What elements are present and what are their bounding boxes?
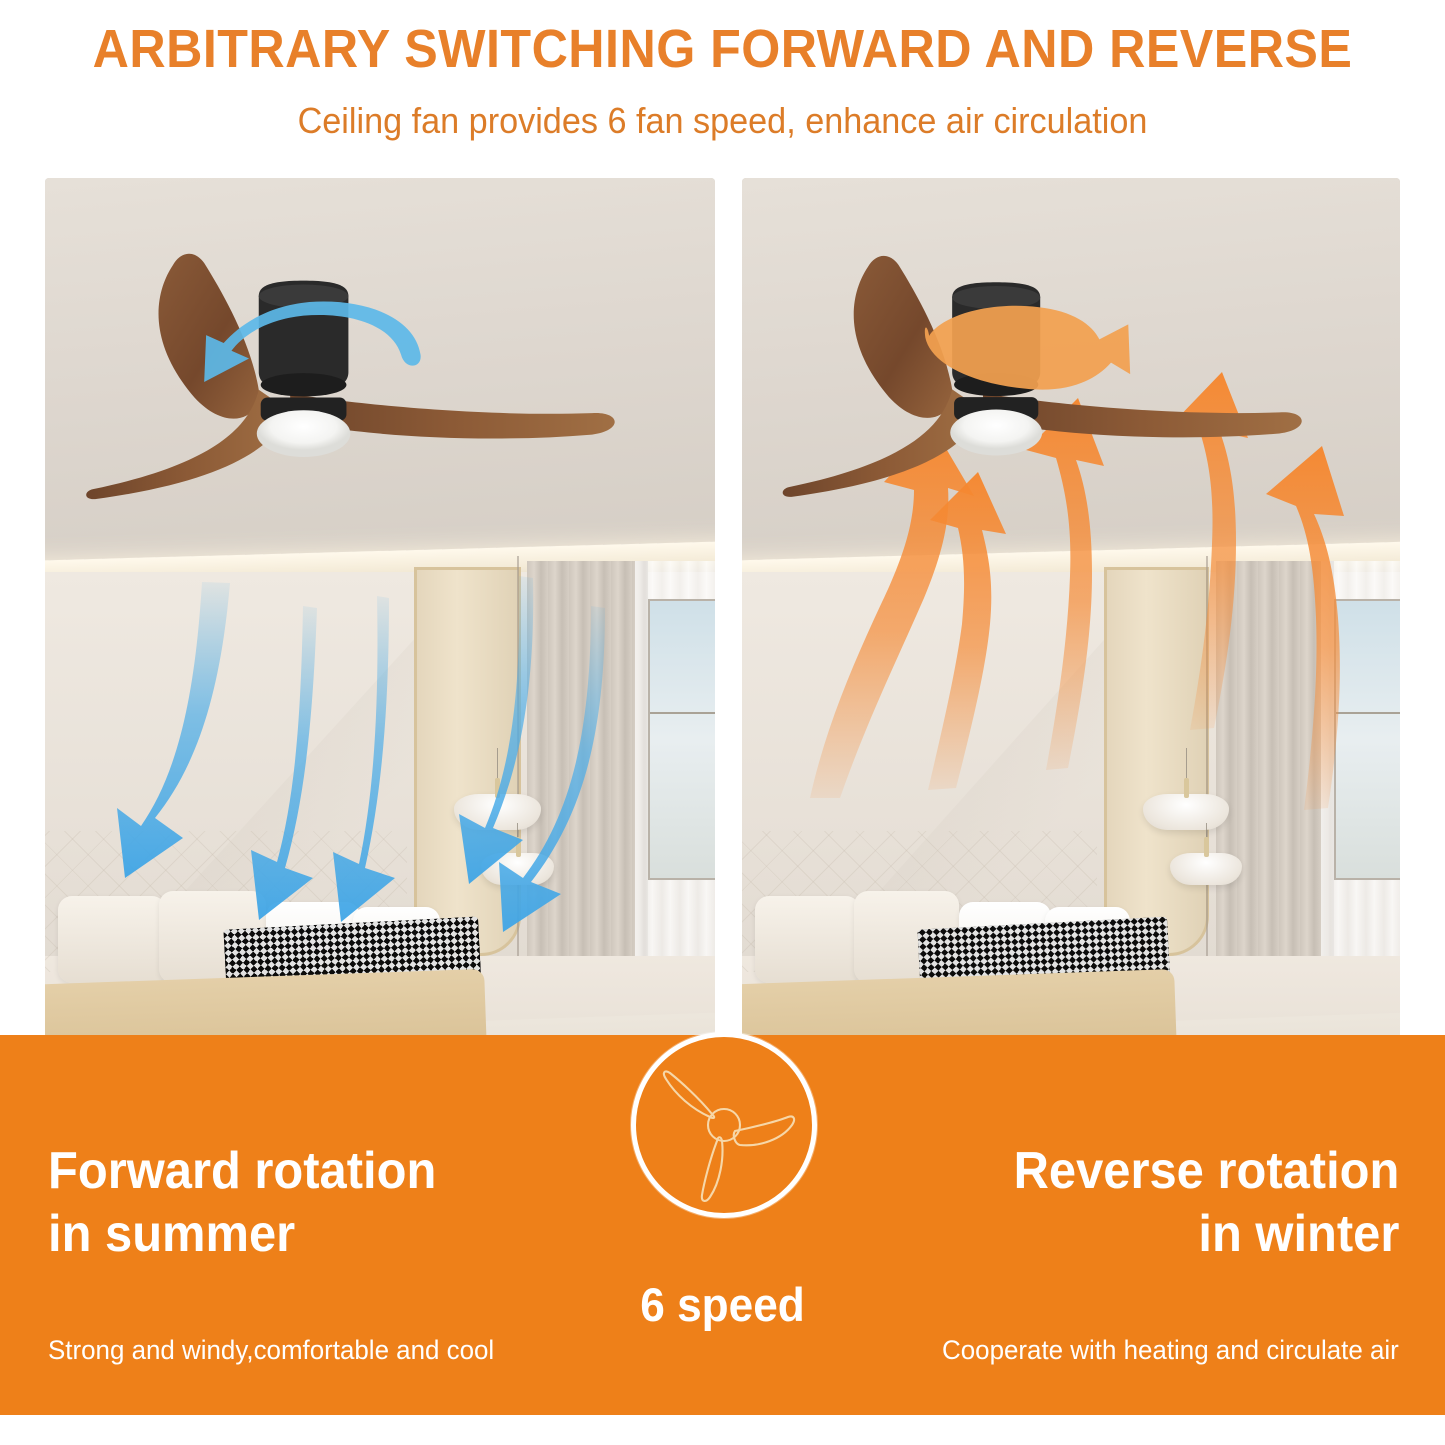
page-subtitle: Ceiling fan provides 6 fan speed, enhanc… xyxy=(36,100,1409,142)
forward-rotation-heading: Forward rotation in summer xyxy=(48,1140,436,1267)
forward-rotation-caption: Strong and windy,comfortable and cool xyxy=(48,1335,494,1366)
speed-label: 6 speed xyxy=(43,1277,1401,1332)
ceiling-fan-forward xyxy=(58,221,701,523)
reverse-rotation-caption: Cooperate with heating and circulate air xyxy=(942,1335,1399,1366)
header: ARBITRARY SWITCHING FORWARD AND REVERSE … xyxy=(0,0,1445,178)
page-title: ARBITRARY SWITCHING FORWARD AND REVERSE xyxy=(51,18,1395,80)
fan-blades-icon xyxy=(636,1037,812,1213)
ceiling-fan-reverse xyxy=(755,221,1387,523)
reverse-rotation-heading: Reverse rotation in winter xyxy=(1013,1140,1399,1267)
fan-speed-badge xyxy=(631,1032,817,1218)
